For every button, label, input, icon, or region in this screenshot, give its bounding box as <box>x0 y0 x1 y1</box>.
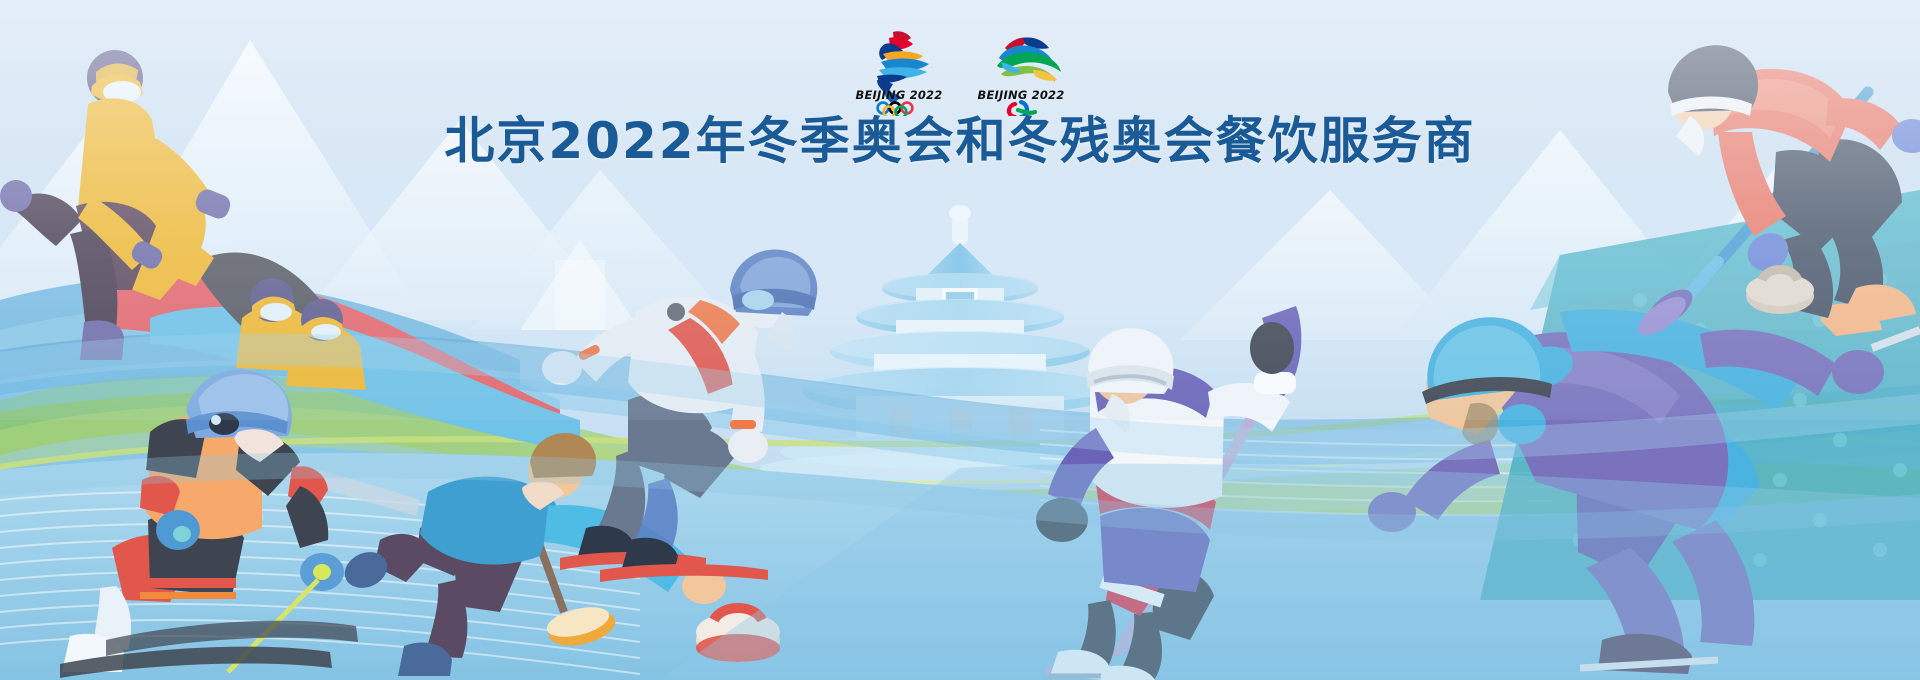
foreground-haze-layer <box>0 0 1920 680</box>
beijing-2022-banner: BEIJING 2022 <box>0 0 1920 680</box>
